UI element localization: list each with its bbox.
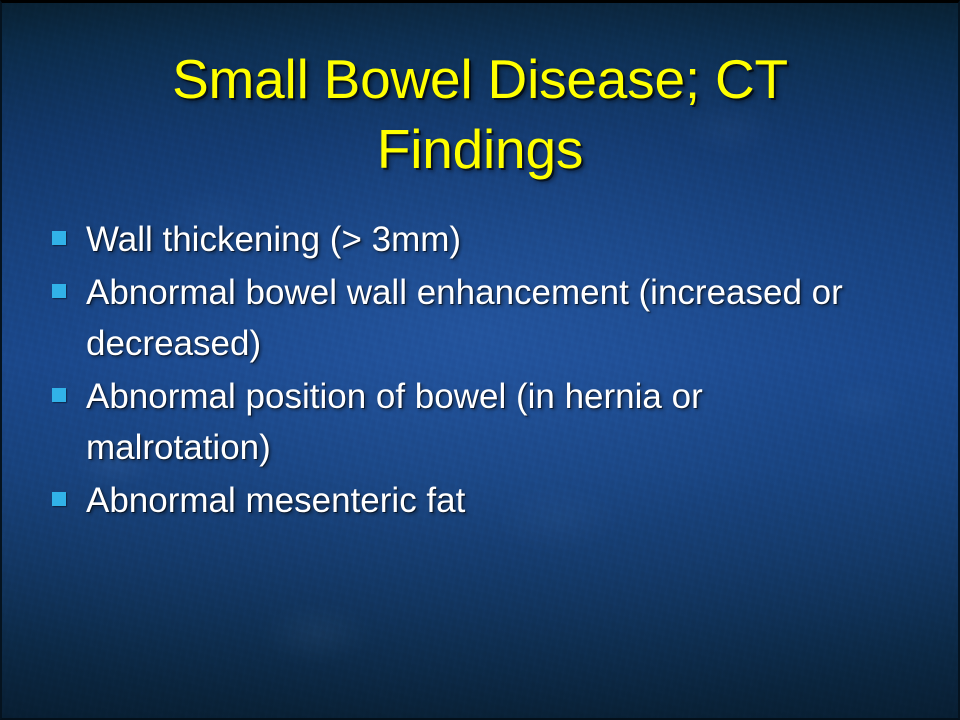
bullet-text: Wall thickening (> 3mm) — [86, 214, 886, 265]
slide-content: Small Bowel Disease; CT Findings Wall th… — [0, 0, 960, 720]
square-bullet-icon — [52, 388, 66, 402]
square-bullet-icon — [52, 284, 66, 298]
square-bullet-icon — [52, 492, 66, 506]
bullet-text: Abnormal mesenteric fat — [86, 475, 886, 526]
list-item: Abnormal mesenteric fat — [52, 475, 932, 526]
bullet-list: Wall thickening (> 3mm) Abnormal bowel w… — [52, 214, 932, 528]
bullet-text: Abnormal position of bowel (in hernia or… — [86, 371, 886, 473]
presentation-slide: Small Bowel Disease; CT Findings Wall th… — [0, 0, 960, 720]
slide-title: Small Bowel Disease; CT Findings — [60, 44, 900, 184]
square-bullet-icon — [52, 231, 66, 245]
list-item: Wall thickening (> 3mm) — [52, 214, 932, 265]
list-item: Abnormal position of bowel (in hernia or… — [52, 371, 932, 473]
list-item: Abnormal bowel wall enhancement (increas… — [52, 267, 932, 369]
bullet-text: Abnormal bowel wall enhancement (increas… — [86, 267, 886, 369]
